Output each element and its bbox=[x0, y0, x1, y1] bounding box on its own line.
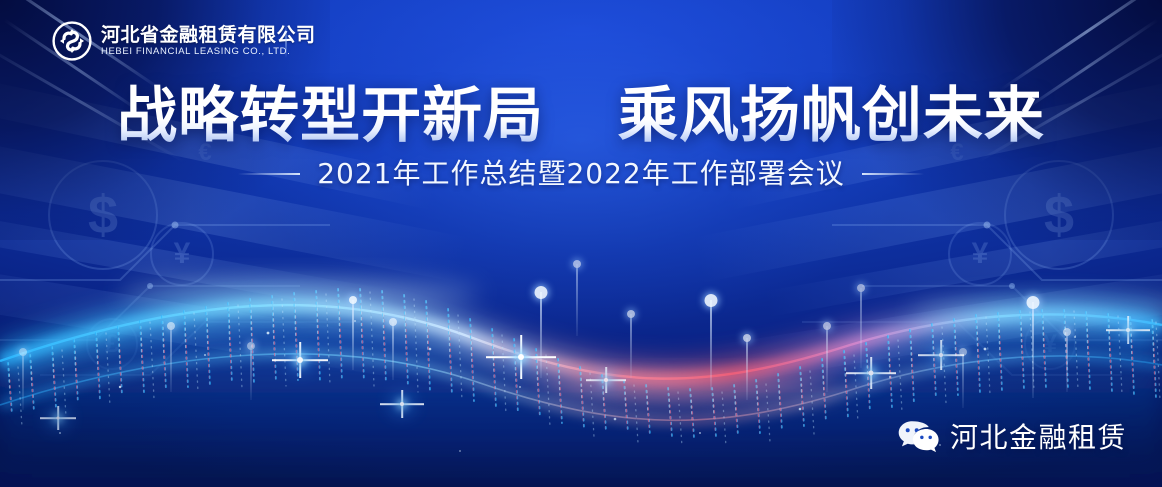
logo-company-name-cn: 河北省金融租赁有限公司 bbox=[101, 26, 316, 45]
company-logo-lockup: 河北省金融租赁有限公司 HEBEI FINANCIAL LEASING CO.,… bbox=[52, 21, 316, 61]
pin-line bbox=[746, 338, 748, 400]
logo-company-name-en: HEBEI FINANCIAL LEASING CO., LTD. bbox=[101, 47, 316, 57]
subtitle-text: 2021年工作总结暨2022年工作部署会议 bbox=[317, 160, 845, 188]
pin-line bbox=[540, 292, 542, 378]
wechat-badge: 河北金融租赁 bbox=[897, 420, 1127, 456]
pin-line bbox=[826, 326, 828, 392]
pin-line bbox=[710, 300, 712, 390]
pin-line bbox=[352, 300, 354, 370]
wechat-icon bbox=[897, 420, 939, 456]
page-title: 战略转型开新局 乘风扬帆创未来 bbox=[0, 86, 1162, 146]
subtitle-rule-right bbox=[862, 173, 924, 175]
headline-segment-2: 乘风扬帆创未来 bbox=[618, 81, 1045, 151]
wechat-label: 河北金融租赁 bbox=[950, 424, 1127, 452]
subtitle-row: 2021年工作总结暨2022年工作部署会议 bbox=[0, 160, 1162, 188]
pin-line bbox=[22, 352, 24, 410]
pin-line bbox=[170, 326, 172, 392]
headline-segment-1: 战略转型开新局 bbox=[117, 81, 544, 151]
logo-divider bbox=[285, 24, 287, 58]
pin-line bbox=[250, 346, 252, 400]
pin-line bbox=[962, 352, 964, 408]
pin-line bbox=[630, 314, 632, 378]
pinwheel-swirl-logo-icon bbox=[52, 21, 92, 61]
conference-banner: $ ¥ € £ $ ¥ € ¥ bbox=[0, 0, 1162, 487]
pin-line bbox=[1032, 302, 1034, 398]
pin-line bbox=[860, 288, 862, 368]
pin-line bbox=[1066, 332, 1068, 392]
pin-line bbox=[392, 322, 394, 380]
subtitle-rule-left bbox=[238, 173, 300, 175]
pin-line bbox=[576, 264, 578, 336]
